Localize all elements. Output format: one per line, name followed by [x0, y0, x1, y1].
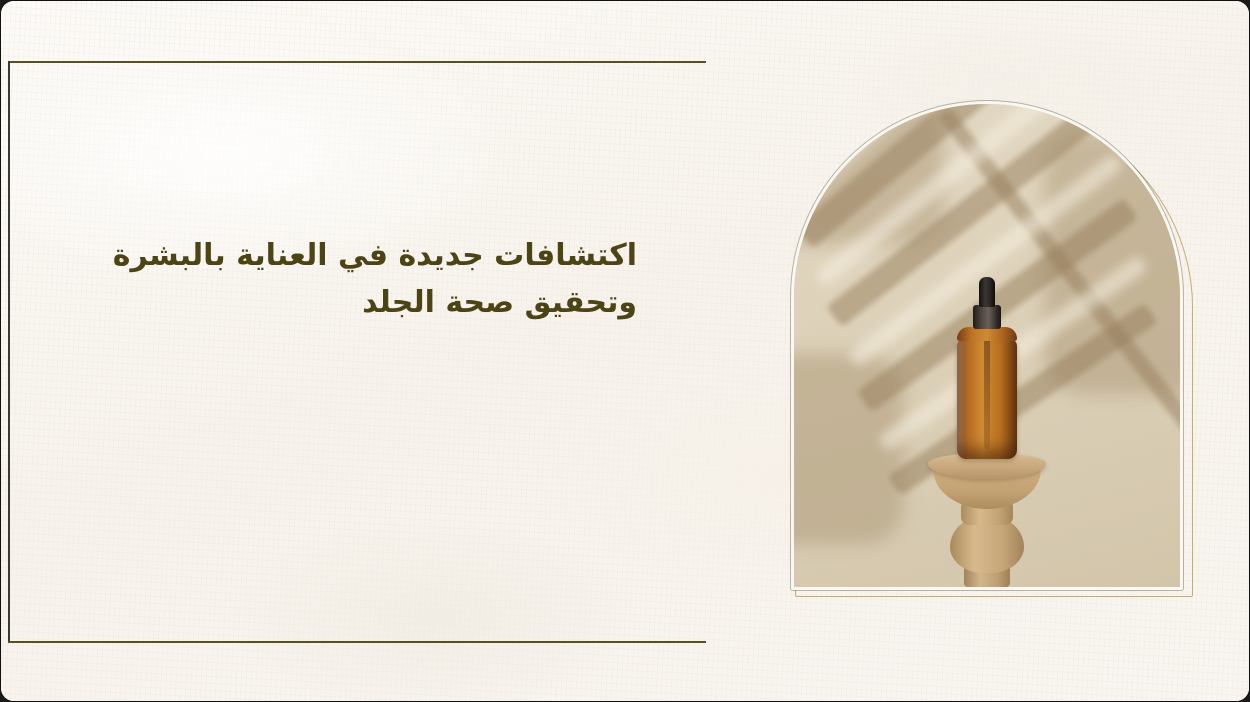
page-title: اكتشافات جديدة في العناية بالبشرة وتحقيق…	[57, 233, 637, 326]
bottle-dropper-cap	[979, 277, 995, 307]
bottle-collar	[973, 305, 1001, 329]
bottle-shoulder	[957, 327, 1017, 341]
product-photo	[791, 101, 1183, 590]
divider-line-bottom	[8, 641, 706, 643]
arch-image-frame	[791, 101, 1191, 597]
bottle-pipette	[984, 337, 990, 449]
divider-line-top	[8, 61, 706, 63]
slide-canvas: اكتشافات جديدة في العناية بالبشرة وتحقيق…	[0, 0, 1250, 702]
divider-line-left	[8, 61, 10, 643]
